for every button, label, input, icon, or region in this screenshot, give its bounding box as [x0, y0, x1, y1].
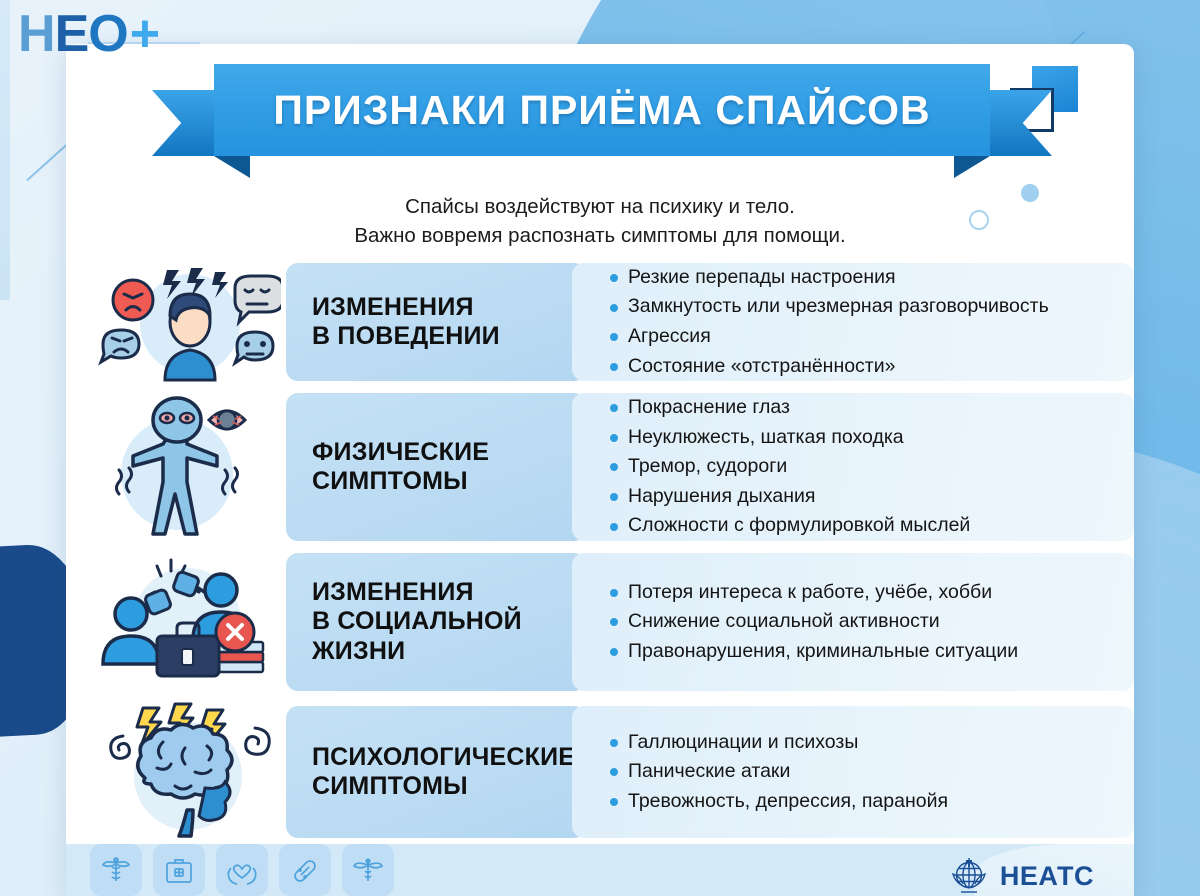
list-item: Галлюцинации и психозы	[610, 728, 1116, 758]
section-behavior-changes: ИЗМЕНЕНИЯ В ПОВЕДЕНИИ Резкие перепады на…	[66, 262, 1134, 382]
section-social-life: ИЗМЕНЕНИЯ В СОЦИАЛЬНОЙ ЖИЗНИ Потеря инте…	[66, 552, 1134, 692]
section-items-psychological: Галлюцинации и психозы Панические атаки …	[572, 706, 1134, 838]
list-item: Сложности с формулировкой мыслей	[610, 511, 1116, 541]
section-title-line-1: ФИЗИЧЕСКИЕ	[312, 438, 489, 468]
infographic-card: ПРИЗНАКИ ПРИЁМА СПАЙСОВ Спайсы воздейств…	[66, 44, 1134, 896]
ribbon-body: ПРИЗНАКИ ПРИЁМА СПАЙСОВ	[214, 64, 990, 156]
subtitle-line-2: Важно вовремя распознать симптомы для по…	[66, 221, 1134, 250]
section-title-line-3: ЖИЗНИ	[312, 637, 522, 667]
section-title-physical: ФИЗИЧЕСКИЕ СИМПТОМЫ	[286, 393, 586, 541]
section-psychological-symptoms: ПСИХОЛОГИЧЕСКИЕ СИМПТОМЫ Галлюцинации и …	[66, 702, 1134, 842]
logo-letter-o: O	[88, 8, 127, 60]
background-left-strip	[0, 0, 10, 300]
list-item: Покраснение глаз	[610, 393, 1116, 423]
section-title-social: ИЗМЕНЕНИЯ В СОЦИАЛЬНОЙ ЖИЗНИ	[286, 553, 586, 691]
logo-letter-e: E	[55, 8, 89, 60]
heart-in-hands-icon	[216, 844, 268, 896]
caduceus-icon	[90, 844, 142, 896]
body-tremor-red-eye-icon	[90, 392, 286, 542]
who-globe-emblem	[947, 854, 991, 896]
subtitle: Спайсы воздействуют на психику и тело. В…	[66, 192, 1134, 250]
section-title-line-2: В СОЦИАЛЬНОЙ	[312, 607, 522, 637]
logo-letter-n: H	[18, 8, 55, 60]
list-item: Правонарушения, криминальные ситуации	[610, 637, 1116, 667]
list-item: Агрессия	[610, 322, 1116, 352]
list-item: Состояние «отстранённости»	[610, 352, 1116, 382]
section-physical-symptoms: ФИЗИЧЕСКИЕ СИМПТОМЫ Покраснение глаз Неу…	[66, 392, 1134, 542]
page-title: ПРИЗНАКИ ПРИЁМА СПАЙСОВ	[273, 87, 930, 134]
list-item: Резкие перепады настроения	[610, 263, 1116, 293]
section-title-line-2: СИМПТОМЫ	[312, 772, 575, 802]
brain-lightning-icon	[90, 702, 286, 842]
ribbon-fold-right	[954, 156, 990, 178]
who-org-name: НЕАТС	[1000, 861, 1094, 892]
brand-logo: HEO+	[18, 8, 159, 60]
list-item: Тревожность, депрессия, паранойя	[610, 787, 1116, 817]
mood-swings-icon	[90, 262, 286, 382]
list-item: Снижение социальной активности	[610, 607, 1116, 637]
first-aid-kit-icon	[153, 844, 205, 896]
footer-bar: НЕАТС	[66, 844, 1134, 896]
list-item: Тремор, судороги	[610, 452, 1116, 482]
section-title-behavior: ИЗМЕНЕНИЯ В ПОВЕДЕНИИ	[286, 263, 586, 381]
broken-social-ties-icon	[90, 552, 286, 692]
list-item: Замкнутость или чрезмерная разговорчивос…	[610, 292, 1116, 322]
list-item: Панические атаки	[610, 757, 1116, 787]
section-title-line-1: ИЗМЕНЕНИЯ	[312, 293, 500, 323]
list-item: Неуклюжесть, шаткая походка	[610, 423, 1116, 453]
section-title-line-2: В ПОВЕДЕНИИ	[312, 322, 500, 352]
ribbon-fold-left	[214, 156, 250, 178]
list-item: Потеря интереса к работе, учёбе, хобби	[610, 578, 1116, 608]
section-title-line-2: СИМПТОМЫ	[312, 467, 489, 497]
section-items-social: Потеря интереса к работе, учёбе, хобби С…	[572, 553, 1134, 691]
section-title-psychological: ПСИХОЛОГИЧЕСКИЕ СИМПТОМЫ	[286, 706, 586, 838]
title-ribbon: ПРИЗНАКИ ПРИЁМА СПАЙСОВ	[152, 60, 1052, 160]
footer-icon-row	[66, 844, 394, 896]
who-organization-logo: НЕАТС	[947, 854, 1094, 896]
caduceus-wings-icon	[342, 844, 394, 896]
list-item: Нарушения дыхания	[610, 482, 1116, 512]
sections-list: ИЗМЕНЕНИЯ В ПОВЕДЕНИИ Резкие перепады на…	[66, 262, 1134, 852]
logo-plus-icon: +	[130, 8, 159, 60]
section-title-line-1: ИЗМЕНЕНИЯ	[312, 578, 522, 608]
subtitle-line-1: Спайсы воздействуют на психику и тело.	[66, 192, 1134, 221]
section-items-physical: Покраснение глаз Неуклюжесть, шаткая пох…	[572, 393, 1134, 541]
section-title-line-1: ПСИХОЛОГИЧЕСКИЕ	[312, 743, 575, 773]
pill-capsule-icon	[279, 844, 331, 896]
section-items-behavior: Резкие перепады настроения Замкнутость и…	[572, 263, 1134, 381]
